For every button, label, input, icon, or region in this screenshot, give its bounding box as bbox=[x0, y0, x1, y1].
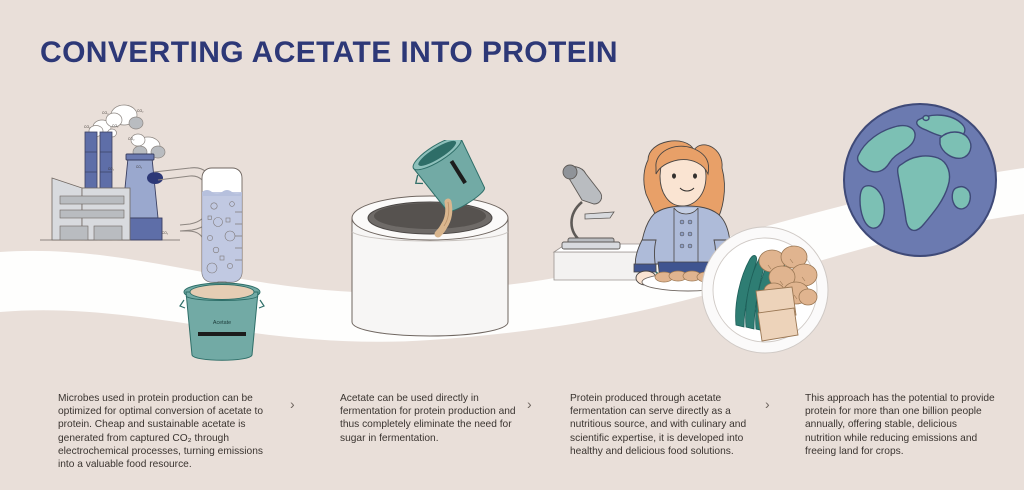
infographic-canvas: CONVERTING ACETATE INTO PROTEIN CO₂ CO₂ … bbox=[0, 0, 1024, 490]
svg-text:CO₂: CO₂ bbox=[112, 124, 119, 128]
protein-slices bbox=[756, 287, 798, 341]
caption-row: Microbes used in protein production can … bbox=[0, 392, 1024, 490]
illustration-fermentation-tank bbox=[330, 140, 530, 360]
fermentation-tank bbox=[352, 196, 508, 336]
chevron-right-icon-2: › bbox=[527, 396, 532, 412]
svg-text:CO₂: CO₂ bbox=[137, 109, 144, 113]
chevron-right-icon-3: › bbox=[765, 396, 770, 412]
illustration-factory-electrolysis: CO₂ CO₂ CO₂ CO₂ CO₂ bbox=[40, 100, 290, 365]
caption-4: This approach has the potential to provi… bbox=[805, 392, 995, 458]
microscope bbox=[562, 165, 620, 249]
svg-text:CO₂: CO₂ bbox=[108, 167, 115, 171]
svg-text:CO₂: CO₂ bbox=[128, 137, 135, 141]
caption-2: Acetate can be used directly in fermenta… bbox=[340, 392, 530, 445]
svg-text:CO₂: CO₂ bbox=[136, 165, 143, 169]
svg-text:CO₂: CO₂ bbox=[84, 125, 91, 129]
chevron-right-icon-1: › bbox=[290, 396, 295, 412]
svg-text:CO₂: CO₂ bbox=[102, 111, 109, 115]
svg-text:CO₂: CO₂ bbox=[162, 231, 169, 235]
illustration-food-plate bbox=[700, 225, 830, 355]
acetate-bucket: Acetate bbox=[180, 283, 264, 360]
caption-1: Microbes used in protein production can … bbox=[58, 392, 263, 471]
page-title: CONVERTING ACETATE INTO PROTEIN bbox=[40, 36, 618, 70]
caption-3: Protein produced through acetate ferment… bbox=[570, 392, 765, 458]
illustration-globe bbox=[840, 100, 1000, 260]
bucket-label: Acetate bbox=[213, 320, 231, 326]
